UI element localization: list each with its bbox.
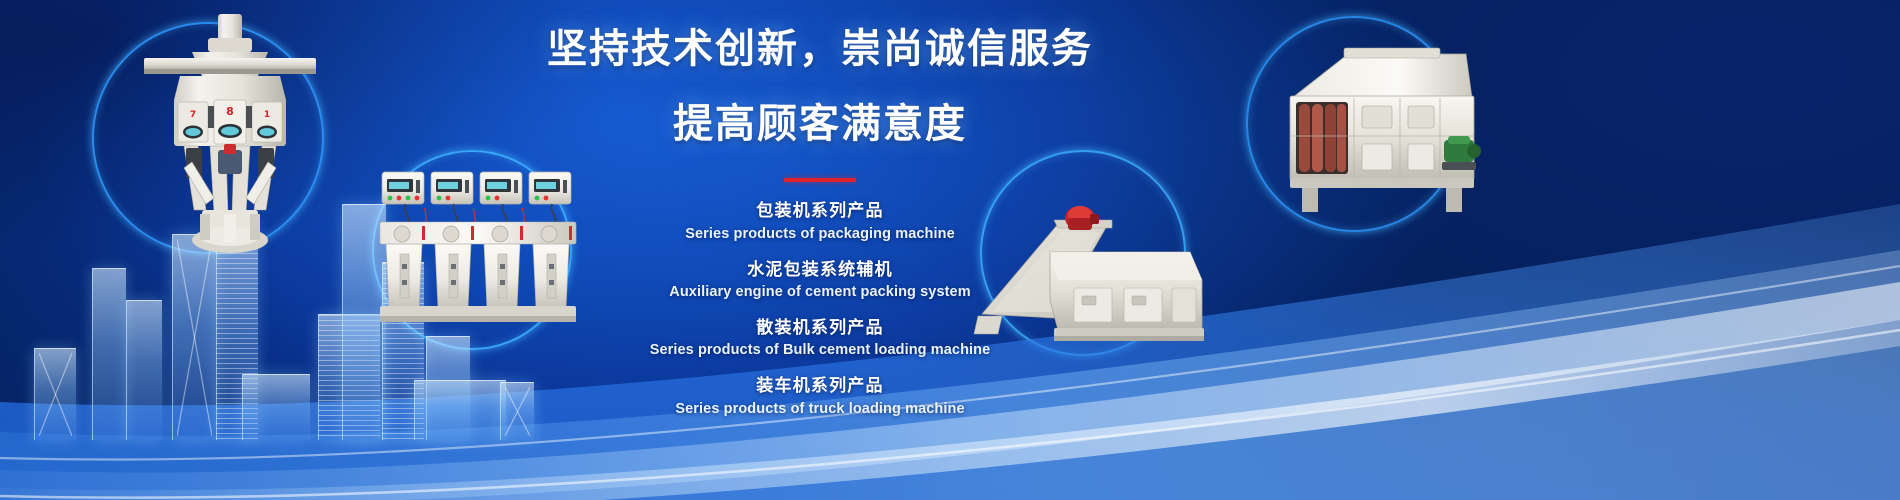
product-item: 水泥包装系统辅机 Auxiliary engine of cement pack…	[540, 257, 1100, 304]
product-item: 散装机系列产品 Series products of Bulk cement l…	[540, 315, 1100, 362]
building	[242, 374, 310, 440]
building	[92, 268, 126, 440]
product-name-cn: 散装机系列产品	[540, 315, 1100, 341]
building	[126, 300, 162, 440]
banner-copy-block: 坚持技术创新，崇尚诚信服务 提高顾客满意度 包装机系列产品 Series pro…	[540, 26, 1100, 420]
product-name-cn: 包装机系列产品	[540, 198, 1100, 224]
machine-photo-dust-collector	[1282, 44, 1482, 220]
product-name-en: Series products of truck loading machine	[540, 399, 1100, 421]
product-name-cn: 装车机系列产品	[540, 373, 1100, 399]
headline-secondary: 提高顾客满意度	[540, 101, 1100, 148]
building	[500, 382, 534, 440]
product-name-cn: 水泥包装系统辅机	[540, 257, 1100, 283]
product-item: 包装机系列产品 Series products of packaging mac…	[540, 198, 1100, 245]
building	[34, 348, 76, 440]
promotional-banner: 7 8 1	[0, 0, 1900, 500]
product-name-en: Series products of packaging machine	[540, 224, 1100, 246]
product-name-en: Auxiliary engine of cement packing syste…	[540, 282, 1100, 304]
svg-text:1: 1	[264, 110, 270, 120]
product-item: 装车机系列产品 Series products of truck loading…	[540, 373, 1100, 420]
product-list: 包装机系列产品 Series products of packaging mac…	[540, 198, 1100, 420]
red-divider	[784, 178, 856, 182]
building	[318, 314, 380, 440]
svg-text:8: 8	[226, 105, 234, 118]
product-name-en: Series products of Bulk cement loading m…	[540, 340, 1100, 362]
headline-primary: 坚持技术创新，崇尚诚信服务	[540, 26, 1100, 73]
building	[426, 336, 470, 440]
building	[414, 380, 506, 440]
machine-photo-rotary-packing-machine: 7 8 1	[140, 14, 320, 274]
svg-text:7: 7	[190, 110, 196, 120]
